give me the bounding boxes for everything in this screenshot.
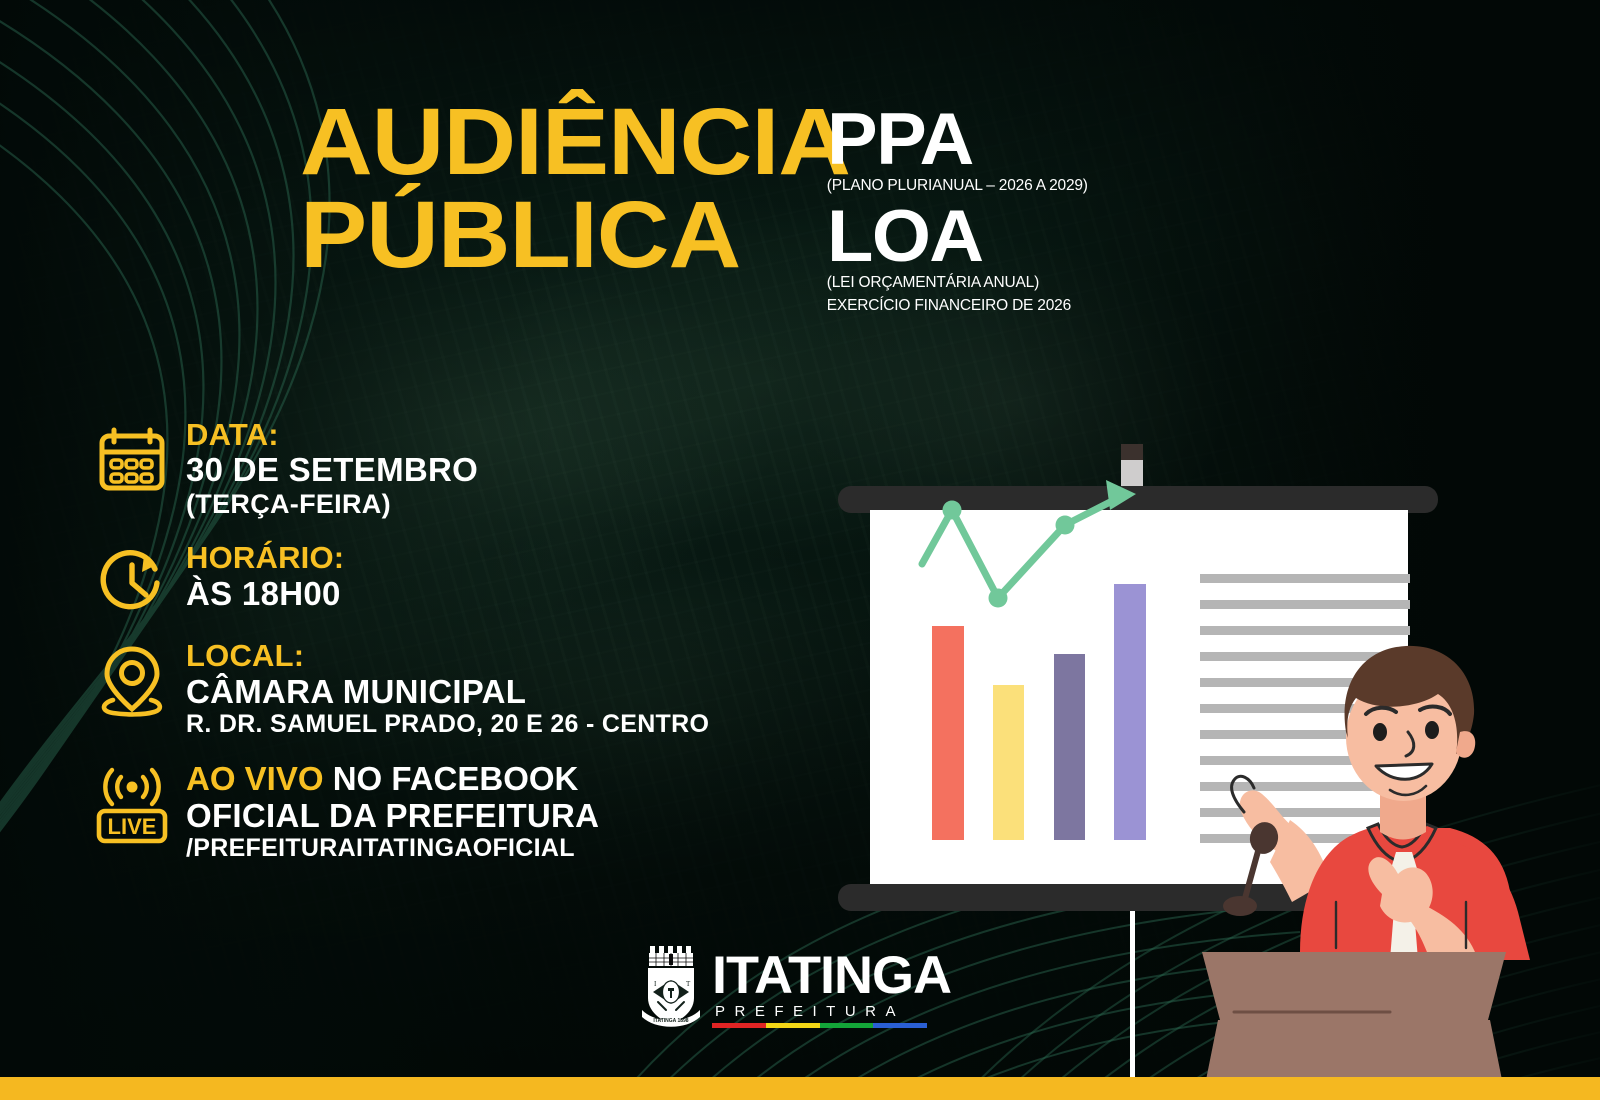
info-text-data: DATA: 30 DE SETEMBRO (TERÇA-FEIRA) — [176, 418, 478, 519]
ao-vivo-highlight: AO VIVO — [186, 760, 324, 797]
logo-subtitle: PREFEITURA — [712, 1003, 946, 1020]
headline-abbreviations: PPA (PLANO PLURIANUAL – 2026 A 2029) LOA… — [827, 98, 1088, 315]
logo-color-bar — [712, 1023, 927, 1028]
info-note-data: (TERÇA-FEIRA) — [186, 490, 478, 520]
chart-point-3 — [1056, 516, 1075, 535]
info-label-ao-vivo: AO VIVO NO FACEBOOK — [186, 761, 599, 797]
poster-root: AUDIÊNCIA PÚBLICA PPA (PLANO PLURIANUAL … — [0, 0, 1600, 1100]
logo-bar-segment-red — [712, 1023, 766, 1028]
info-item-local: LOCAL: CÂMARA MUNICIPAL R. DR. SAMUEL PR… — [88, 639, 848, 738]
bottom-accent-strip — [0, 1077, 1600, 1100]
svg-text:LIVE: LIVE — [108, 814, 157, 839]
logo-text-block: ITATINGA PREFEITURA — [712, 952, 946, 1030]
info-label-local: LOCAL: — [186, 639, 709, 672]
chart-bar-3 — [1054, 654, 1085, 840]
logo-bar-segment-green — [820, 1023, 874, 1028]
live-broadcast-icon: LIVE — [88, 761, 176, 845]
headline-line-1: AUDIÊNCIA — [300, 98, 850, 186]
chart-bar-4 — [1114, 584, 1146, 840]
screen-hanger-top — [1121, 444, 1143, 460]
info-note-ao-vivo: /PREFEITURAITATINGAOFICIAL — [186, 835, 599, 863]
info-note-local: R. DR. SAMUEL PRADO, 20 E 26 - CENTRO — [186, 711, 709, 739]
svg-text:T: T — [686, 980, 691, 988]
chart-point-2 — [989, 589, 1008, 608]
svg-text:ITATINGA 1898: ITATINGA 1898 — [653, 1018, 688, 1024]
logo-name: ITATINGA — [712, 952, 951, 1000]
info-value-local: CÂMARA MUNICIPAL — [186, 674, 709, 710]
ao-vivo-rest: NO FACEBOOK — [324, 760, 579, 797]
coat-of-arms-icon: I T ITATINGA 1898 — [640, 938, 702, 1030]
location-pin-icon — [88, 639, 176, 717]
info-item-data: DATA: 30 DE SETEMBRO (TERÇA-FEIRA) — [88, 418, 848, 519]
abbr-loa: LOA — [827, 205, 1098, 269]
prefeitura-logo: I T ITATINGA 1898 ITATINGA PREFEITURA — [640, 938, 946, 1030]
microphone-base — [1223, 896, 1257, 916]
info-text-horario: HORÁRIO: ÀS 18H00 — [176, 541, 344, 612]
abbr-ppa: PPA — [827, 108, 1098, 172]
event-info-list: DATA: 30 DE SETEMBRO (TERÇA-FEIRA) HORÁR… — [88, 418, 848, 885]
headline-line-2: PÚBLICA — [300, 191, 850, 279]
info-text-ao-vivo: AO VIVO NO FACEBOOK OFICIAL DA PREFEITUR… — [176, 761, 599, 863]
info-text-local: LOCAL: CÂMARA MUNICIPAL R. DR. SAMUEL PR… — [176, 639, 709, 738]
headline-block: AUDIÊNCIA PÚBLICA PPA (PLANO PLURIANUAL … — [300, 98, 1088, 315]
speaker-eye-right — [1425, 721, 1439, 739]
speaker-eye-left — [1373, 723, 1387, 741]
screen-hanger-body — [1121, 460, 1143, 486]
screen-stand-pole — [1130, 892, 1135, 1100]
logo-bar-segment-yellow — [766, 1023, 820, 1028]
info-label-horario: HORÁRIO: — [186, 541, 344, 574]
info-value-ao-vivo: OFICIAL DA PREFEITURA — [186, 798, 599, 834]
info-value-data: 30 DE SETEMBRO — [186, 452, 478, 488]
info-value-horario: ÀS 18H00 — [186, 576, 344, 612]
podium-top — [1202, 952, 1506, 1020]
chart-point-1 — [943, 501, 962, 520]
calendar-icon — [88, 418, 176, 494]
abbr-loa-subtitle-2: EXERCÍCIO FINANCEIRO DE 2026 — [827, 297, 1088, 315]
info-item-horario: HORÁRIO: ÀS 18H00 — [88, 541, 848, 617]
chart-bar-2 — [993, 685, 1024, 840]
logo-bar-segment-blue — [873, 1023, 927, 1028]
clock-icon — [88, 541, 176, 617]
chart-bar-1 — [932, 626, 964, 840]
info-item-ao-vivo: LIVE AO VIVO NO FACEBOOK OFICIAL DA PREF… — [88, 761, 848, 863]
screen-top-bar — [838, 486, 1438, 513]
info-label-data: DATA: — [186, 418, 478, 451]
